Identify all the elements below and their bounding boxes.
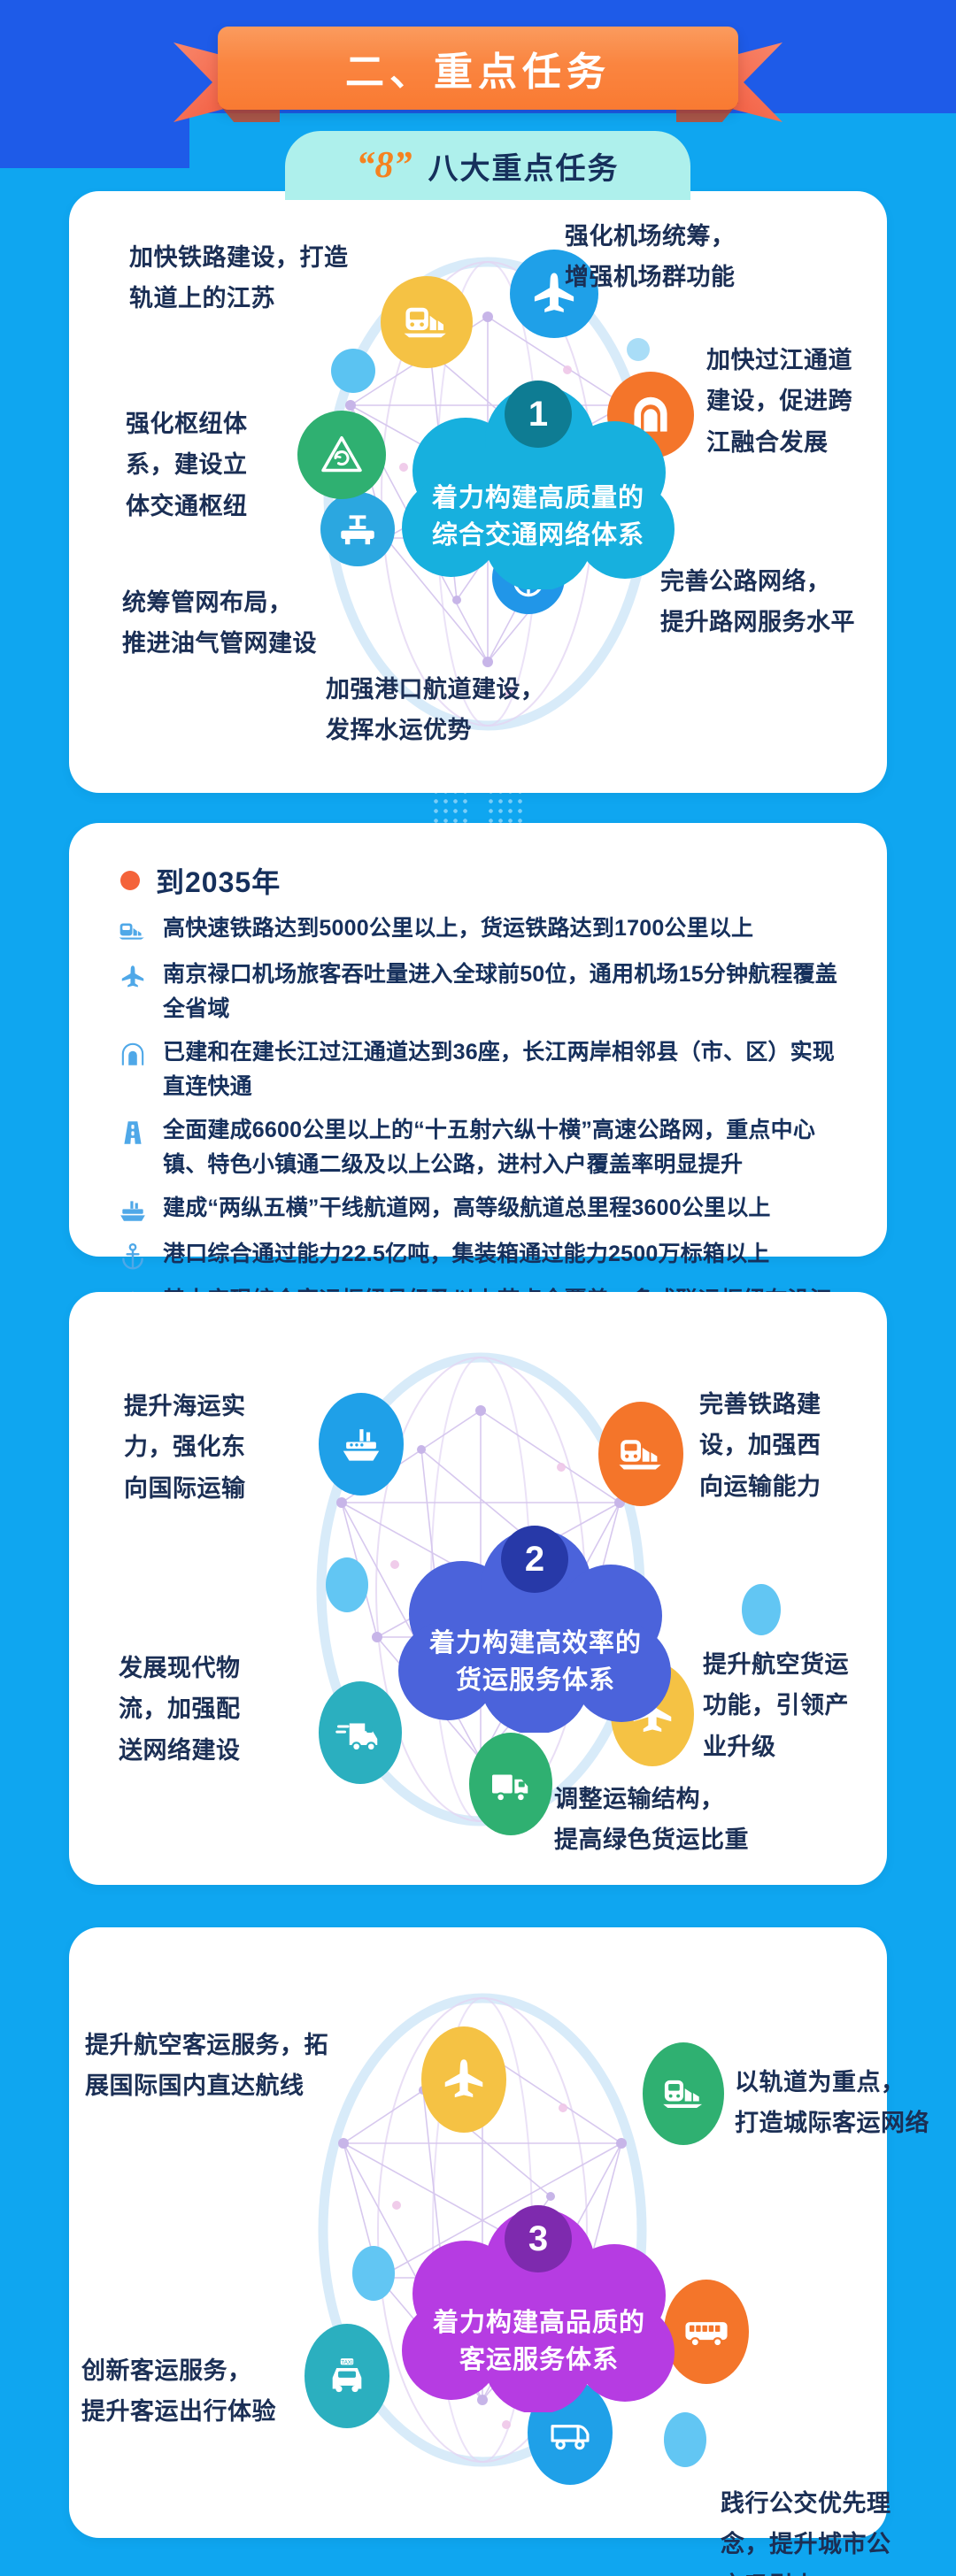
- banner-plate: 二、重点任务: [218, 27, 738, 110]
- label-bus-priority: 践行公交优先理 念，提升城市公 交吸引力: [721, 2483, 906, 2576]
- label-air-cargo: 提升航空货运 功能，引领产 业升级: [703, 1644, 898, 1767]
- card-1-center-cloud: 1 着力构建高质量的 综合交通网络体系: [397, 386, 680, 589]
- targets-2035-card: 到2035年 高快速铁路达到5000公里以上，货运铁路达到1700公里以上: [69, 823, 887, 1257]
- subtitle-pill: “8” 八大重点任务: [285, 131, 690, 200]
- accent-dot: [331, 349, 375, 393]
- target-item: 高快速铁路达到5000公里以上，货运铁路达到1700公里以上: [115, 911, 846, 949]
- target-item: 全面建成6600公里以上的“十五射六纵十横”高速公路网，重点中心镇、特色小镇通二…: [115, 1113, 846, 1182]
- passenger-plane-icon: [421, 2026, 506, 2133]
- anchor-icon: [115, 1239, 150, 1274]
- targets-heading-text: 到2035年: [156, 860, 281, 901]
- card-3-center-cloud: 3 着力构建高品质的 客运服务体系: [398, 2209, 680, 2412]
- task-card-2: 2 着力构建高效率的 货运服务体系 提升海运实 力，强化东 向国际运输 完善铁路…: [69, 1292, 887, 1885]
- cargo-ship-icon: [319, 1393, 404, 1496]
- highway-icon: [115, 1115, 150, 1150]
- bullet-dot-icon: [120, 871, 140, 890]
- target-item: 港口综合通过能力22.5亿吨，集装箱通过能力2500万标箱以上: [115, 1237, 846, 1274]
- target-item-text: 全面建成6600公里以上的“十五射六纵十横”高速公路网，重点中心镇、特色小镇通二…: [163, 1113, 846, 1182]
- train-icon: [115, 913, 150, 949]
- target-item-text: 已建和在建长江过江通道达到36座，长江两岸相邻县（市、区）实现直连快通: [163, 1035, 846, 1104]
- train-icon: [381, 276, 473, 368]
- label-river-crossing: 加快过江通道 建设，促进跨 江融合发展: [706, 340, 883, 463]
- label-green-freight: 调整运输结构， 提高绿色货运比重: [554, 1779, 811, 1861]
- task-card-3: TAXI: [69, 1927, 887, 2538]
- background-corner-cut: [0, 113, 189, 168]
- card-3-cloud-line1: 着力构建高品质的: [398, 2304, 680, 2341]
- section-banner: 二、重点任务: [0, 7, 956, 113]
- label-passenger-innovation: 创新客运服务， 提升客运出行体验: [81, 2350, 347, 2433]
- label-rail-intercity: 以轨道为重点， 打造城际客运网络: [735, 2062, 956, 2144]
- label-rail-west: 完善铁路建 设，加强西 向运输能力: [699, 1384, 885, 1507]
- target-item-text: 港口综合通过能力22.5亿吨，集装箱通过能力2500万标箱以上: [163, 1237, 769, 1272]
- infographic-page: 二、重点任务 “8” 八大重点任务: [0, 0, 956, 2576]
- hub-triangle-icon: [297, 411, 386, 499]
- tunnel-icon: [115, 1037, 150, 1073]
- target-item-text: 南京禄口机场旅客吞吐量进入全球前50位，通用机场15分钟航程覆盖全省域: [163, 957, 846, 1027]
- label-air-passenger: 提升航空客运服务，拓 展国际国内直达航线: [85, 2025, 404, 2107]
- label-rail-construction: 加快铁路建设，打造 轨道上的江苏: [129, 237, 386, 319]
- card-3-number-badge: 3: [505, 2205, 572, 2272]
- card-2-cloud-line1: 着力构建高效率的: [395, 1625, 676, 1662]
- label-hub-system: 强化枢纽体 系，建设立 体交通枢纽: [126, 404, 303, 527]
- accent-dot: [326, 1557, 368, 1612]
- label-port-waterway: 加强港口航道建设， 发挥水运优势: [326, 669, 618, 751]
- card-2-number-badge: 2: [501, 1526, 568, 1593]
- banner-title: 二、重点任务: [345, 40, 611, 96]
- label-airport-coordination: 强化机场统筹， 增强机场群功能: [565, 216, 821, 298]
- accent-dot: [664, 2412, 706, 2467]
- subtitle-label: 八大重点任务: [428, 144, 620, 188]
- targets-heading: 到2035年: [120, 860, 281, 901]
- card-1-cloud-line1: 着力构建高质量的: [397, 480, 680, 517]
- task-card-1: 1 着力构建高质量的 综合交通网络体系 加快铁路建设，打造 轨道上的江苏 强化机…: [69, 191, 887, 793]
- label-sea-transport: 提升海运实 力，强化东 向国际运输: [124, 1386, 310, 1509]
- card-2-cloud-line2: 货运服务体系: [395, 1662, 676, 1699]
- ship-icon: [115, 1193, 150, 1228]
- label-road-network: 完善公路网络， 提升路网服务水平: [660, 561, 890, 643]
- accent-dot: [742, 1584, 781, 1635]
- target-item-text: 高快速铁路达到5000公里以上，货运铁路达到1700公里以上: [163, 911, 753, 946]
- delivery-van-icon: [319, 1681, 402, 1784]
- accent-dot: [352, 2246, 395, 2301]
- label-modern-logistics: 发展现代物 流，加强配 送网络建设: [119, 1648, 305, 1771]
- card-2-center-cloud: 2 着力构建高效率的 货运服务体系: [395, 1529, 676, 1733]
- card-1-number-badge: 1: [505, 381, 572, 448]
- card-3-cloud-line2: 客运服务体系: [398, 2341, 680, 2379]
- accent-dot: [627, 338, 650, 361]
- pipeline-icon: [320, 492, 395, 566]
- target-item: 建成“两纵五横”干线航道网，高等级航道总里程3600公里以上: [115, 1191, 846, 1228]
- target-item: 已建和在建长江过江通道达到36座，长江两岸相邻县（市、区）实现直连快通: [115, 1035, 846, 1104]
- metro-train-icon: [643, 2042, 724, 2145]
- label-pipeline-network: 统筹管网布局， 推进油气管网建设: [122, 582, 388, 665]
- target-item: 南京禄口机场旅客吞吐量进入全球前50位，通用机场15分钟航程覆盖全省域: [115, 957, 846, 1027]
- freight-train-icon: [598, 1402, 683, 1506]
- airplane-icon: [115, 959, 150, 995]
- card-1-cloud-line2: 综合交通网络体系: [397, 517, 680, 554]
- eight-badge-text: “8”: [357, 144, 412, 187]
- target-item-text: 建成“两纵五横”干线航道网，高等级航道总里程3600公里以上: [163, 1191, 771, 1226]
- green-truck-icon: [469, 1733, 552, 1835]
